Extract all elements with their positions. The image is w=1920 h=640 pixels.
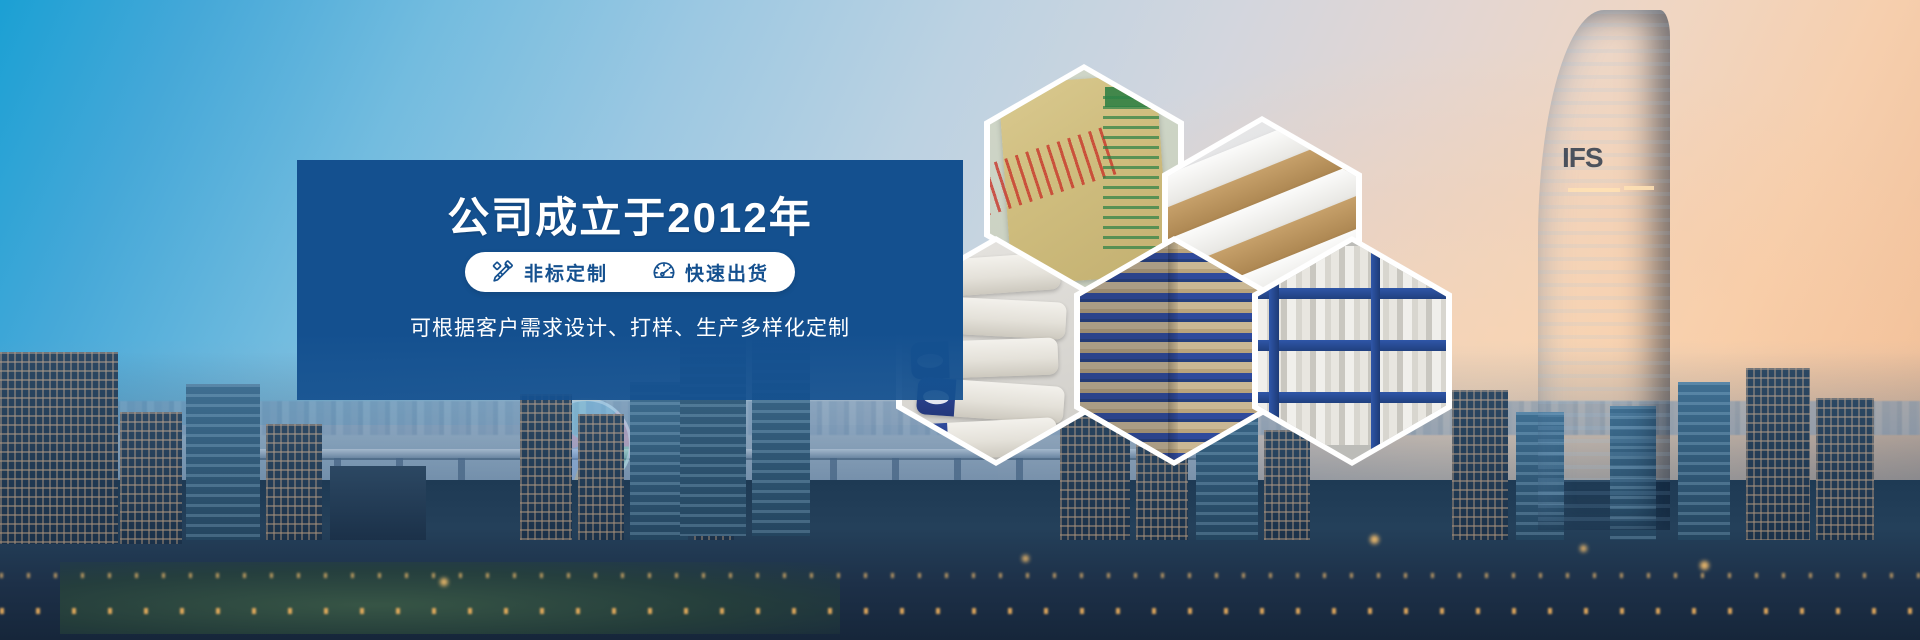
building bbox=[186, 384, 260, 540]
building bbox=[330, 466, 426, 540]
panel-title: 公司成立于2012年 bbox=[297, 184, 963, 245]
building bbox=[520, 394, 572, 540]
speedometer-icon bbox=[652, 260, 676, 284]
building bbox=[120, 412, 182, 544]
badge-label-custom: 非标定制 bbox=[524, 259, 608, 286]
building bbox=[578, 414, 624, 540]
badge-item-custom[interactable]: 非标定制 bbox=[491, 259, 608, 286]
building bbox=[0, 352, 118, 544]
feature-badge-pill: 非标定制 快速出货 bbox=[465, 252, 795, 292]
green-park bbox=[60, 562, 840, 634]
building bbox=[1746, 368, 1810, 540]
pencil-ruler-icon bbox=[491, 260, 515, 284]
hero-banner: IFS bbox=[0, 0, 1920, 640]
panel-subtitle: 可根据客户需求设计、打样、生产多样化定制 bbox=[297, 312, 963, 342]
badge-label-fast-shipping: 快速出货 bbox=[685, 259, 769, 286]
badge-item-fast-shipping[interactable]: 快速出货 bbox=[652, 259, 769, 286]
product-hexagon-gallery bbox=[880, 64, 1640, 464]
building bbox=[266, 424, 322, 540]
building bbox=[1816, 398, 1874, 540]
building bbox=[1678, 382, 1730, 540]
promo-panel: 公司成立于2012年 非标定制 bbox=[297, 160, 963, 400]
